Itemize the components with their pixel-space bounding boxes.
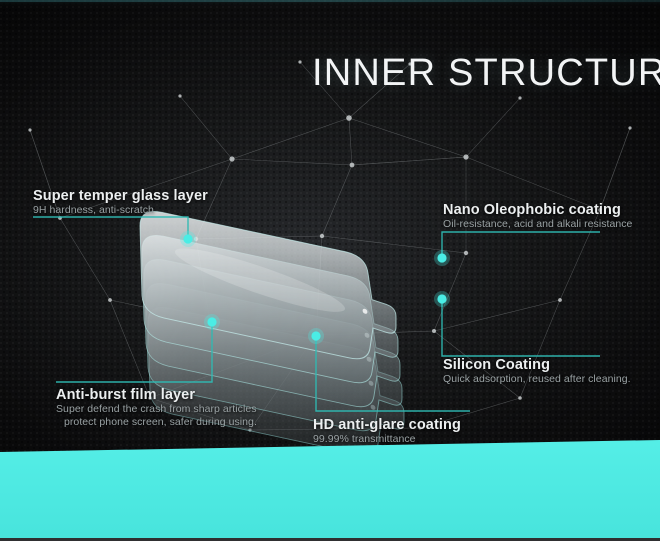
callout-title: Super temper glass layer bbox=[33, 188, 208, 204]
callout-subtitle: 9H hardness, anti-scratch bbox=[33, 204, 208, 217]
callout-hd-anti-glare-coating: HD anti-glare coating 99.99% transmittan… bbox=[313, 417, 461, 446]
callout-title: Anti-burst film layer bbox=[56, 387, 257, 403]
callout-silicon-coating: Silicon Coating Quick adsorption, reused… bbox=[443, 357, 631, 386]
callout-subtitle: Oil-resistance, acid and alkali resistan… bbox=[443, 218, 632, 231]
callout-title: Silicon Coating bbox=[443, 357, 631, 373]
inner-structure-poster: INNER STRUCTURE Super temper glass layer… bbox=[0, 0, 660, 541]
callout-anti-burst-film-layer: Anti-burst film layer Super defend the c… bbox=[56, 387, 257, 429]
callout-subtitle: Super defend the crash from sharp articl… bbox=[56, 403, 257, 416]
page-title: INNER STRUCTURE bbox=[312, 52, 642, 95]
callout-title: Nano Oleophobic coating bbox=[443, 202, 632, 218]
callout-nano-oleophobic-coating: Nano Oleophobic coating Oil-resistance, … bbox=[443, 202, 632, 231]
top-edge-highlight bbox=[0, 0, 660, 2]
callout-title: HD anti-glare coating bbox=[313, 417, 461, 433]
bottom-band-shading bbox=[0, 440, 660, 541]
callout-subtitle-line2: protect phone screen, safer during using… bbox=[56, 416, 257, 429]
callout-super-temper-glass-layer: Super temper glass layer 9H hardness, an… bbox=[33, 188, 208, 217]
callout-subtitle: Quick adsorption, reused after cleaning. bbox=[443, 373, 631, 386]
